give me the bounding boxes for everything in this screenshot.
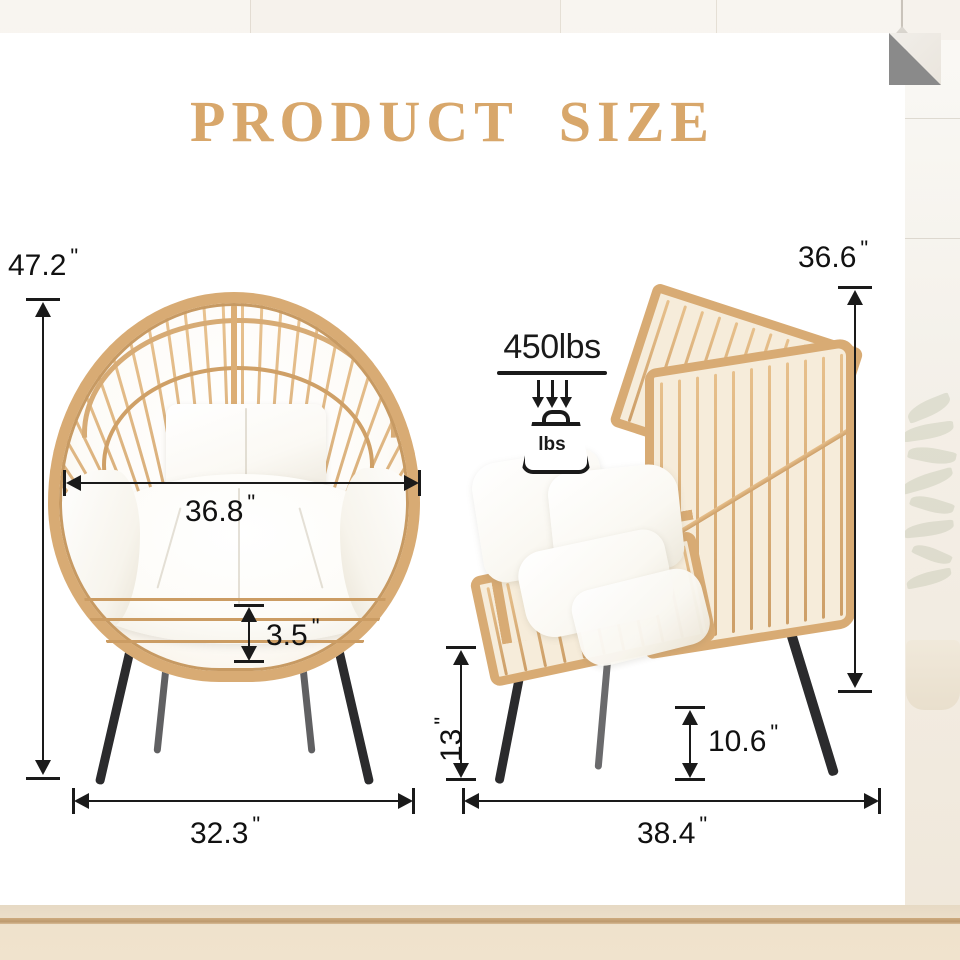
plant-foliage [900,390,960,610]
dim-arrow-left [74,793,89,809]
dimension-label-47-2: 47.2" [8,244,78,283]
floor [0,905,960,960]
dim-arrow-down [35,760,51,775]
window [898,40,960,400]
dimension-label-36-6: 36.6" [798,236,868,275]
down-arrow-icon-2 [551,380,554,399]
dimension-label-36-8: 36.8" [185,490,255,529]
dim-line [70,482,414,484]
dim-arrow-left [464,793,479,809]
side-chair-leg-rear [785,629,839,777]
dim-arrow-left [66,475,81,491]
dim-arrow-up [35,302,51,317]
dim-line [468,800,874,802]
down-arrow-icon-1 [537,380,540,399]
weight-icon: lbs [521,410,583,466]
dim-arrow-down [847,673,863,688]
window-mullion-1 [898,118,960,119]
dim-cap-top [838,286,872,289]
dim-cap-top [446,646,476,649]
weight-icon-label: lbs [521,434,583,456]
down-arrow-icon-3 [565,380,568,399]
product-image-front-view [40,292,430,782]
dim-arrow-right [864,793,879,809]
side-chair-leg-mid [595,650,612,770]
dimension-label-3-5: 3.5" [266,614,320,653]
dim-arrow-down [682,763,698,778]
dim-cap-bottom [838,690,872,693]
dim-cap-bottom [26,777,60,780]
plant-pot [906,640,960,710]
dim-arrow-right [404,475,419,491]
load-capacity-badge: 450lbs lbs [497,330,607,466]
dim-arrow-right [398,793,413,809]
dim-arrow-up [682,710,698,725]
dim-arrow-up [847,290,863,305]
dim-arrow-up [241,607,257,622]
dim-cap-bottom [446,778,476,781]
dimension-label-13: 13" [430,717,469,762]
dimension-label-32-3: 32.3" [190,812,260,851]
load-direction-arrows [497,380,607,406]
load-capacity-rule [497,371,607,375]
window-mullion-2 [898,238,960,239]
load-capacity-value: 450lbs [497,330,607,364]
dimension-label-38-4: 38.4" [637,812,707,851]
floor-edge [0,918,960,924]
dim-line [854,294,856,686]
product-size-infographic: PRODUCT SIZE [0,0,960,960]
dim-cap-top [26,298,60,301]
dim-arrow-down [453,763,469,778]
dim-line [78,800,408,802]
lamp-cord [901,0,903,28]
dim-arrow-up [453,650,469,665]
dim-cap-top [675,706,705,709]
page-title: PRODUCT SIZE [0,88,905,155]
dim-cap-bottom [675,778,705,781]
dim-line [42,306,44,772]
dimension-label-10-6: 10.6" [708,720,778,759]
dim-arrow-down [241,646,257,661]
